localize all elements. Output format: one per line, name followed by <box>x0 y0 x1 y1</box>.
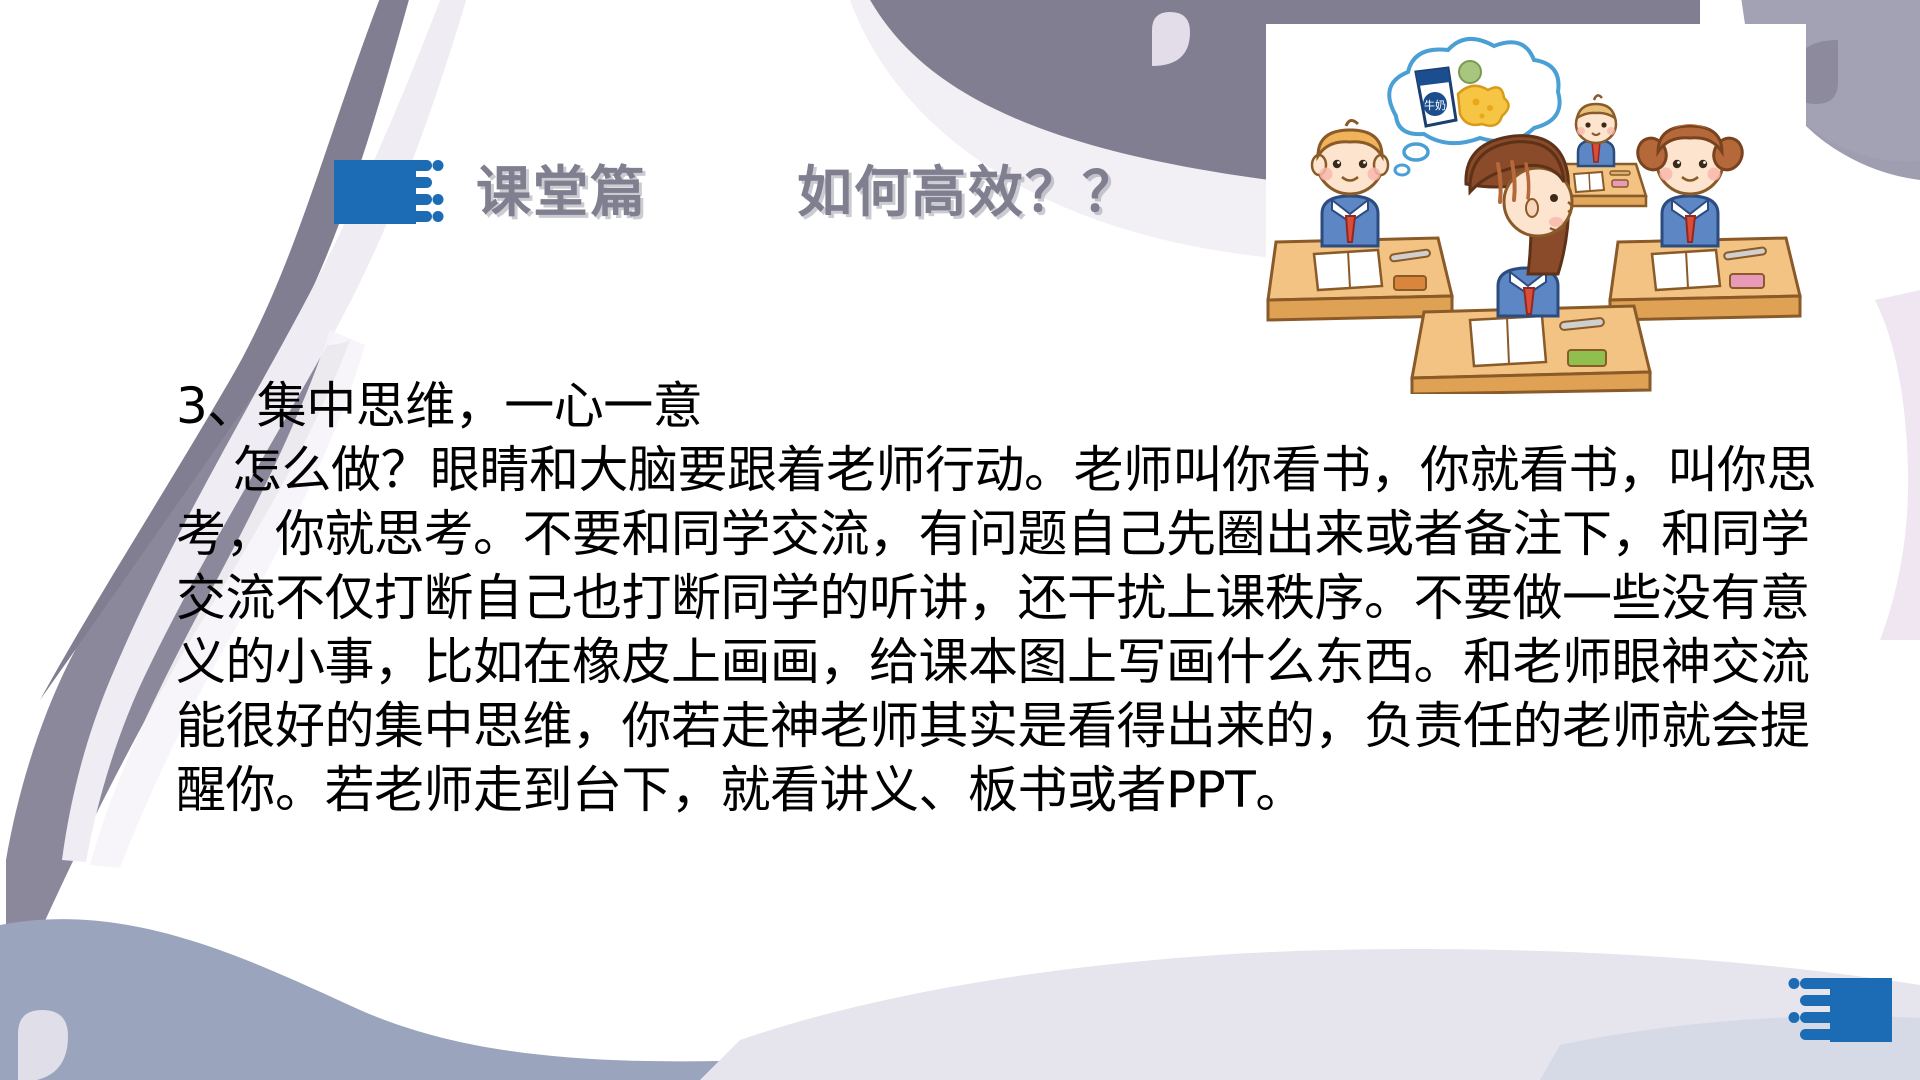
blue-book-bookmark-icon <box>334 158 452 226</box>
question-title: 如何高效？？ <box>797 165 1139 220</box>
deco-bottomleft-wave-front <box>0 960 700 1080</box>
body-text-block: 3、集中思维，一心一意 怎么做？眼睛和大脑要跟着老师行动。老师叫你看书，你就看书… <box>176 374 1816 822</box>
svg-text:牛奶: 牛奶 <box>1424 98 1446 112</box>
chapter-title: 课堂篇 <box>476 165 647 220</box>
deco-bottom-lavender-wave <box>700 949 1920 1080</box>
blue-book-bookmark-icon-mirrored <box>1782 975 1892 1045</box>
body-paragraph: 怎么做？眼睛和大脑要跟着老师行动。老师叫你看书，你就看书，叫你思考，你就思考。不… <box>176 438 1816 822</box>
slide-title-row: 课堂篇 如何高效？？ <box>334 158 1139 226</box>
presentation-slide: 课堂篇 如何高效？？ 3、集中思维，一心一意 怎么做？眼睛和大脑要跟着老师行动。… <box>0 0 1920 1080</box>
deco-top-teardrop <box>1152 12 1190 66</box>
deco-bottomleft-wave <box>0 919 1230 1080</box>
classroom-illustration: 牛奶 <box>1266 24 1806 394</box>
deco-bottomleft-teardrop <box>18 1010 68 1080</box>
deco-right-lavender-wedge <box>1875 290 1920 640</box>
